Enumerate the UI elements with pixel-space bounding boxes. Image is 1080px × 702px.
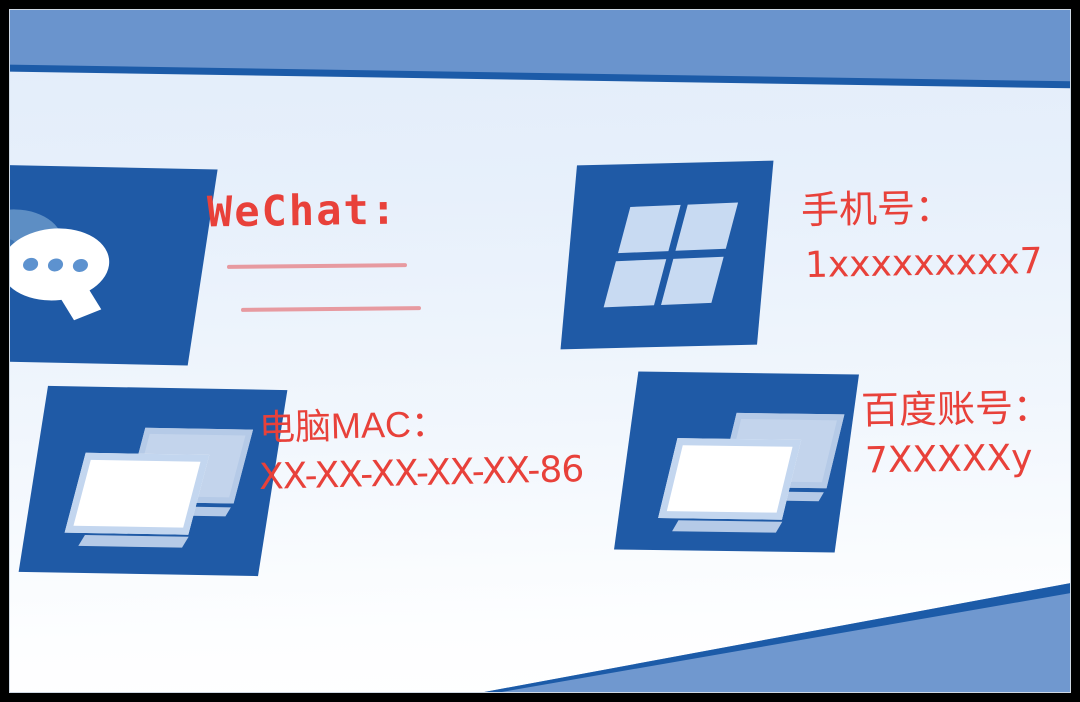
monitor-front-stand [672, 520, 782, 532]
windows-logo-icon [603, 202, 744, 311]
bubble-dot [22, 258, 39, 271]
slide-canvas: WeChat: 手机号： 1xxxxxxxxx7 电脑MAC： XX-XX-XX… [0, 0, 1080, 702]
slide-background: WeChat: 手机号： 1xxxxxxxxx7 电脑MAC： XX-XX-XX… [9, 9, 1071, 693]
monitor-front [658, 438, 801, 520]
chat-bubble-front [9, 227, 114, 301]
windows-pane [675, 203, 738, 251]
wechat-icon-tile [9, 164, 218, 365]
mac-value: XX-XX-XX-XX-XX-86 [259, 451, 584, 497]
computer-monitors-icon [67, 427, 255, 545]
monitor-front [65, 453, 210, 535]
bubble-dot [72, 259, 89, 272]
wechat-label: WeChat: [207, 188, 399, 235]
windows-icon-tile [561, 161, 774, 350]
mac-icon-tile [19, 386, 288, 576]
computer-monitors-icon [661, 412, 846, 529]
phone-label: 手机号： [801, 190, 954, 233]
bubble-dot [47, 258, 64, 271]
windows-pane [604, 259, 667, 307]
phone-value: 1xxxxxxxxx7 [805, 243, 1043, 285]
baidu-label: 百度账号： [861, 389, 1052, 432]
baidu-value: 7XXXXXy [865, 440, 1033, 481]
windows-pane [661, 257, 724, 305]
baidu-icon-tile [614, 371, 859, 552]
windows-pane [618, 205, 681, 253]
mac-label: 电脑MAC： [259, 405, 448, 447]
monitor-front-stand [78, 535, 188, 548]
